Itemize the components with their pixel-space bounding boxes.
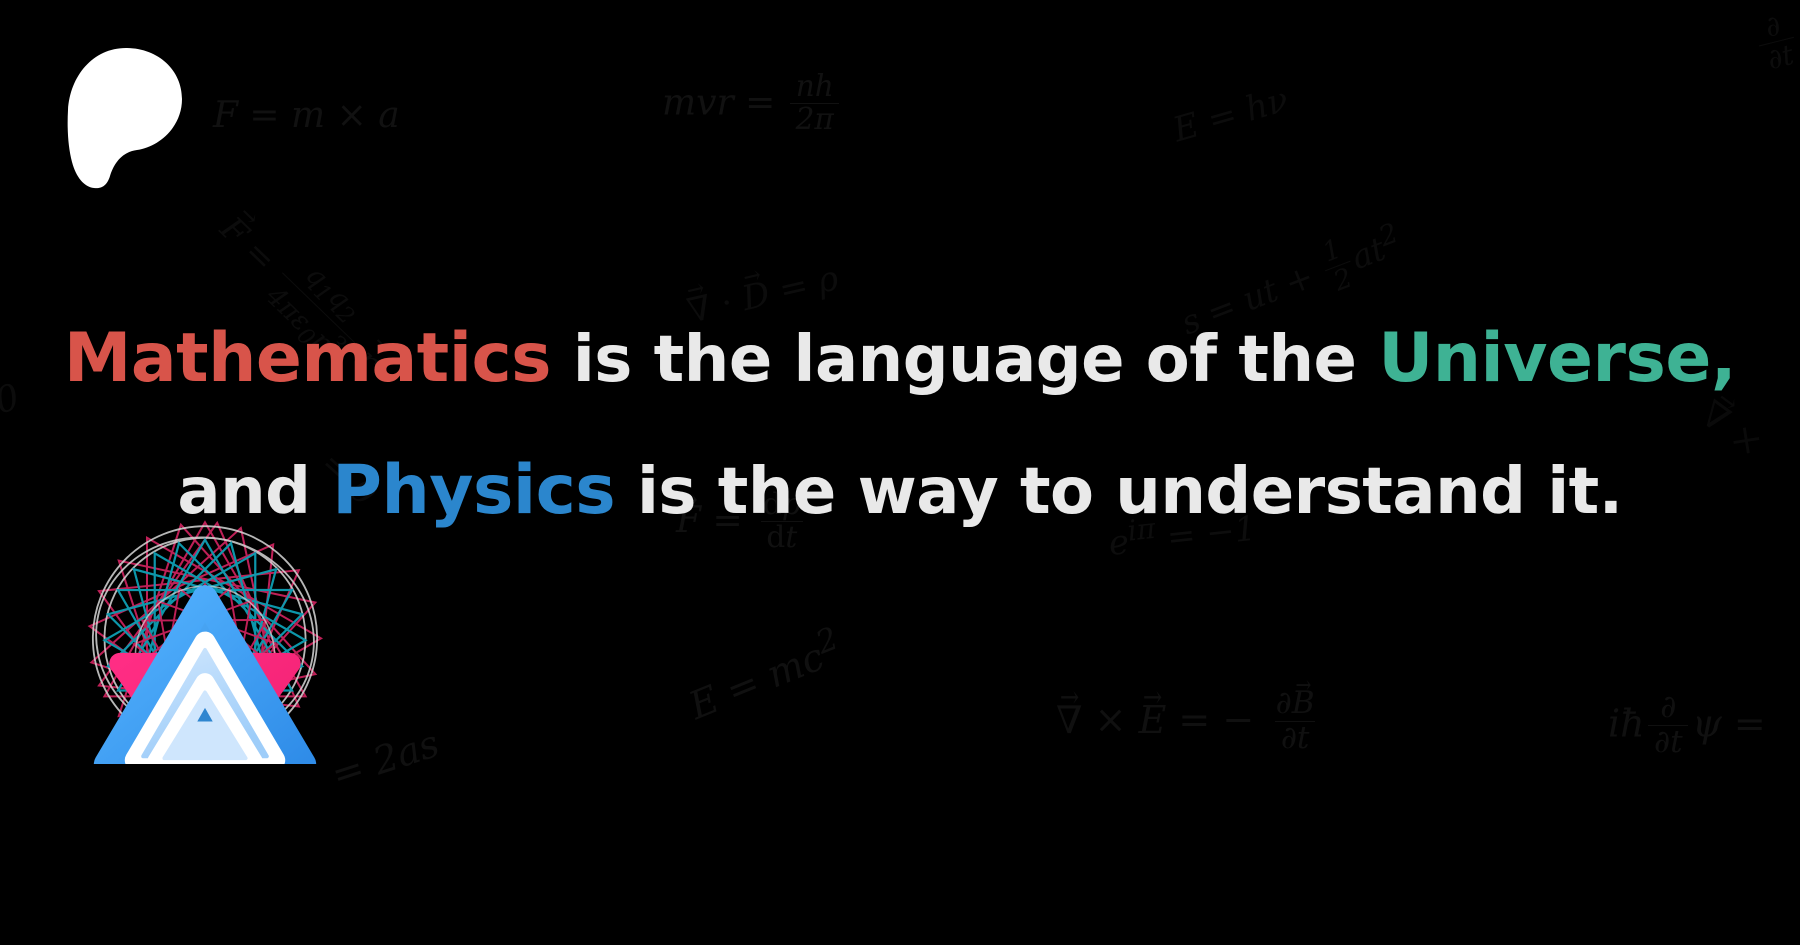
word-mathematics: Mathematics xyxy=(64,318,551,397)
patreon-logo-icon[interactable] xyxy=(66,46,184,190)
formula-faraday-law: ∇ × E = − ∂B∂t xyxy=(1056,690,1324,756)
word-physics: Physics xyxy=(332,450,615,529)
quote-block: Mathematics is the language of the Unive… xyxy=(0,292,1800,557)
quote-line-1: Mathematics is the language of the Unive… xyxy=(0,292,1800,424)
formula-planck-energy: E = hν xyxy=(1170,82,1292,147)
formula-bohr-angular-momentum: mvr = nh2π xyxy=(662,74,843,137)
quote-text-plain-1: is the language of the xyxy=(551,323,1378,397)
quote-text-plain-2: and xyxy=(177,455,332,529)
formula-schrodinger-equation: iħ∂∂tψ = xyxy=(1608,694,1766,760)
formula-newton-second-law: F = m × a xyxy=(213,98,400,134)
formula-partial-t-corner: ∂∂t xyxy=(1749,10,1800,78)
word-universe: Universe, xyxy=(1378,318,1736,397)
quote-text-plain-3: is the way to understand it. xyxy=(615,455,1622,529)
poster-canvas: F = m × a mvr = nh2π E = hν ∂∂t F = q1q2… xyxy=(0,0,1800,945)
quote-line-2: and Physics is the way to understand it. xyxy=(0,424,1800,556)
formula-mass-energy: E = mc2 xyxy=(682,623,848,725)
